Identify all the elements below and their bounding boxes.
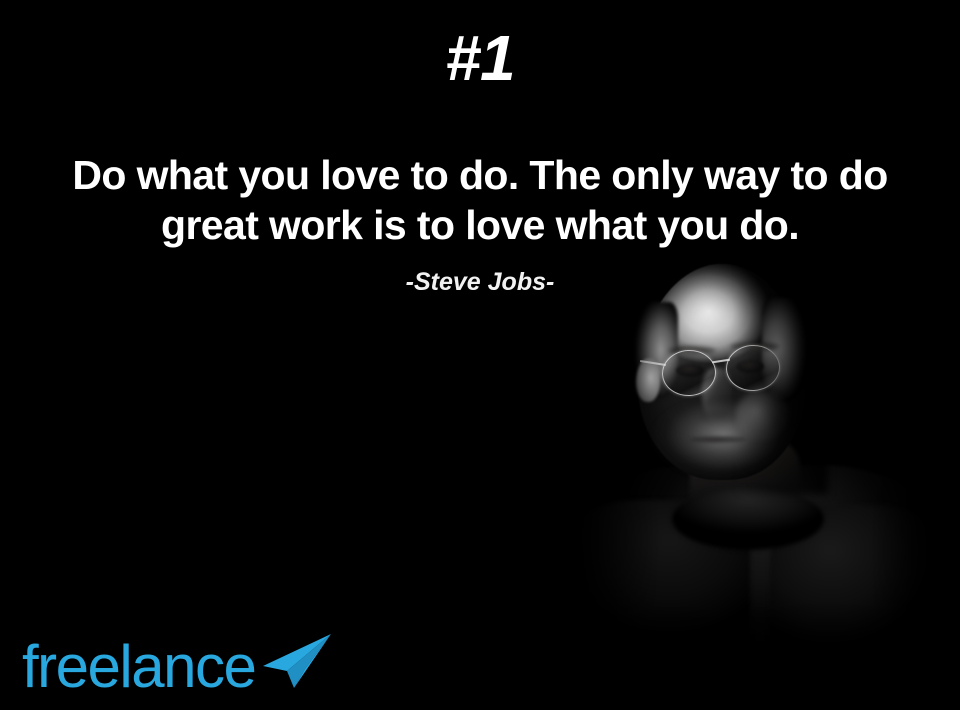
portrait-vignette-right [870,250,960,710]
portrait-eye-right [736,360,764,373]
eyeglasses-bridge [712,359,730,364]
eyeglasses-temple-left [640,360,666,366]
quote-text: Do what you love to do. The only way to … [6,150,954,250]
portrait-cheek-highlight [736,390,788,440]
eyeglasses-lens-right-icon [724,343,781,393]
portrait-steve-jobs [540,250,960,710]
portrait-mouth [690,436,746,443]
portrait-beard [650,400,796,488]
portrait-shadow-right [736,264,828,494]
portrait-shoulder-right [770,505,955,710]
rank-number: #1 [0,26,960,90]
portrait-ear-left [636,358,660,402]
portrait-neck [690,440,800,530]
freelance-logo[interactable]: freelance [22,632,333,702]
quote-attribution: -Steve Jobs- [0,268,960,297]
paper-plane-icon [261,632,333,690]
portrait-hair-right [762,298,812,402]
portrait-eyebrow-right [730,342,780,351]
portrait-eye-left [676,364,704,377]
portrait-torso [570,465,950,710]
portrait-shoulder-left [550,500,750,710]
portrait-nose [702,368,732,422]
portrait-nose-shadow [698,410,738,426]
portrait-vignette-left [540,250,660,710]
quote-poster: #1 Do what you love to do. The only way … [0,0,960,710]
eyeglasses-lens-left-icon [660,348,717,398]
portrait-vignette-bottom [540,600,960,710]
quote-line-1: Do what you love to do. The only way to … [6,150,954,200]
portrait-hair-left [632,302,678,398]
portrait-eyebrow-left [668,346,716,355]
freelance-wordmark: freelance [22,637,255,697]
quote-line-2: great work is to love what you do. [6,200,954,250]
portrait-turtleneck-collar [672,488,824,550]
